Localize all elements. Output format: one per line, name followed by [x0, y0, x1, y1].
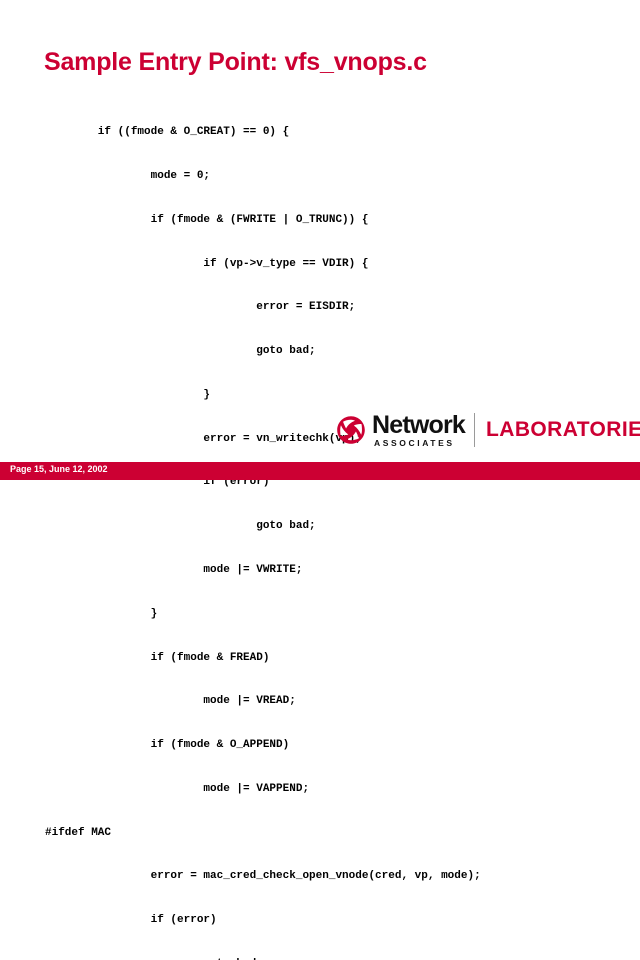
- code-line: mode = 0;: [45, 169, 605, 184]
- code-line: error = EISDIR;: [45, 300, 605, 315]
- code-line: }: [45, 607, 605, 622]
- code-line: mode |= VAPPEND;: [45, 782, 605, 797]
- code-block: if ((fmode & O_CREAT) == 0) { mode = 0; …: [45, 96, 605, 960]
- brand-name-primary: Network: [372, 413, 465, 437]
- code-line: goto bad;: [45, 957, 605, 960]
- code-line: mode |= VWRITE;: [45, 563, 605, 578]
- code-line: }: [45, 388, 605, 403]
- footer-page-info: Page 15, June 12, 2002: [10, 464, 108, 474]
- code-line: if (fmode & (FWRITE | O_TRUNC)) {: [45, 213, 605, 228]
- code-line: goto bad;: [45, 344, 605, 359]
- brand-division-label: LABORATORIES: [486, 419, 640, 441]
- footer-bar: Page 15, June 12, 2002: [0, 462, 640, 480]
- code-line: mode |= VREAD;: [45, 694, 605, 709]
- slide-title: Sample Entry Point: vfs_vnops.c: [44, 48, 427, 77]
- code-line: goto bad;: [45, 519, 605, 534]
- logo-divider: [474, 413, 475, 447]
- code-line: if ((fmode & O_CREAT) == 0) {: [45, 125, 605, 140]
- code-line: error = mac_cred_check_open_vnode(cred, …: [45, 869, 605, 884]
- presentation-slide: Sample Entry Point: vfs_vnops.c if ((fmo…: [0, 0, 640, 480]
- network-associates-laboratories-logo: Network ASSOCIATES LABORATORIES: [336, 410, 640, 450]
- network-associates-shield-icon: [336, 415, 366, 445]
- brand-name-secondary: ASSOCIATES: [374, 438, 465, 448]
- code-line: if (vp->v_type == VDIR) {: [45, 257, 605, 272]
- code-line: if (fmode & O_APPEND): [45, 738, 605, 753]
- brand-wordmark: Network ASSOCIATES: [372, 413, 465, 448]
- code-line: if (error): [45, 913, 605, 928]
- code-line: if (fmode & FREAD): [45, 651, 605, 666]
- code-line: #ifdef MAC: [45, 826, 605, 841]
